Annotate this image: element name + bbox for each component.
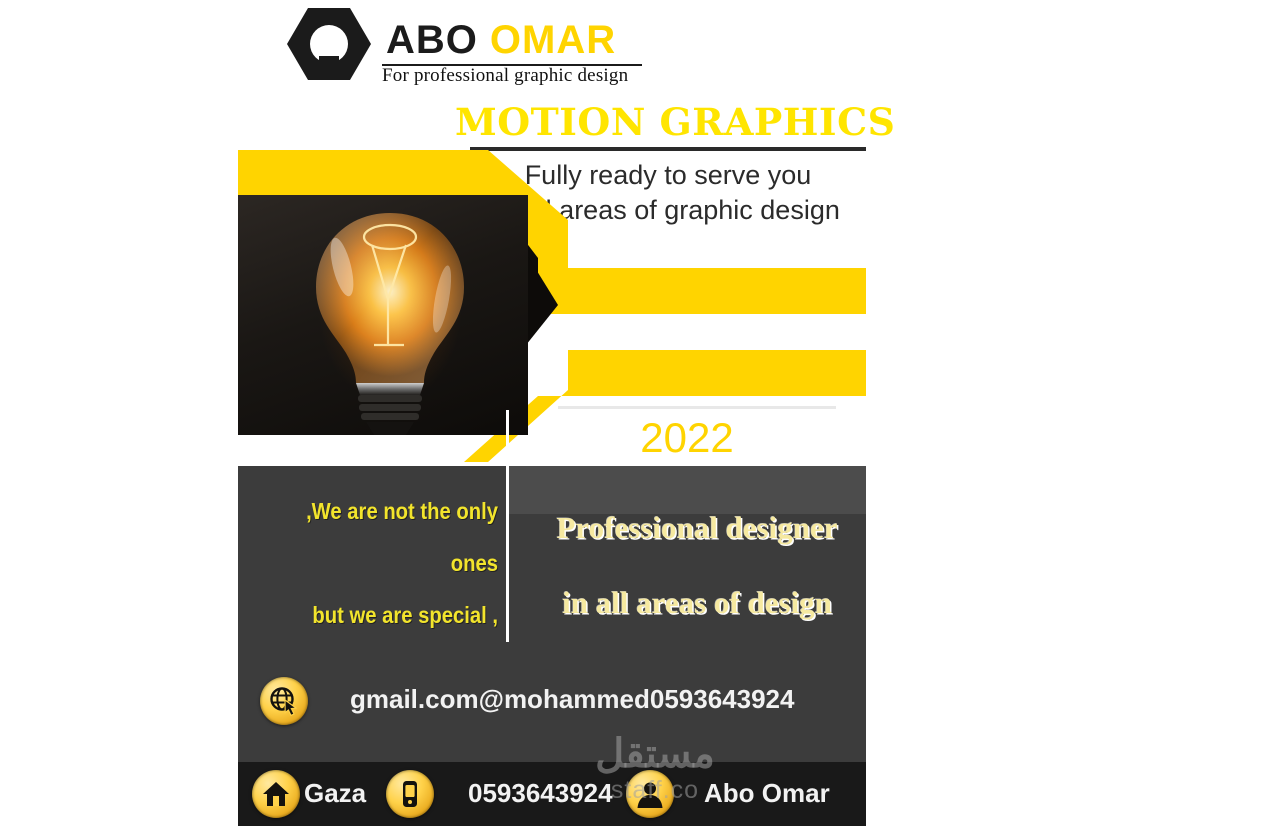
user-icon[interactable] <box>626 770 674 818</box>
statement-text: Professional designer in all areas of de… <box>528 490 866 640</box>
mobile-phone-icon[interactable] <box>386 770 434 818</box>
brand-wordmark: ABOOMAR <box>386 18 886 62</box>
hexagon-nut-logo-icon <box>286 6 372 82</box>
home-icon[interactable] <box>252 770 300 818</box>
brand-header: ABOOMAR For professional graphic design <box>286 4 886 88</box>
contact-person-text: Abo Omar <box>704 778 830 809</box>
about-year: 2022 <box>508 414 866 462</box>
globe-cursor-icon[interactable] <box>260 677 308 725</box>
slogan-line-2: but we are special , <box>276 589 498 641</box>
contact-phone-text: 0593643924 <box>468 778 613 809</box>
hero-image-frame <box>238 195 528 435</box>
brand-name-first: ABO <box>386 18 478 62</box>
lightbulb-illustration <box>238 195 528 435</box>
poster-canvas: ABOOMAR For professional graphic design … <box>0 0 1280 826</box>
column-divider <box>506 410 509 642</box>
page-title: MOTION GRAPHICS <box>455 100 883 144</box>
slogan-line-1: ,We are not the only ones <box>276 485 498 589</box>
poster-card: brief about me 2022 ,We are not the only… <box>238 150 866 826</box>
contact-email-text: gmail.com@mohammed0593643924 <box>350 684 794 715</box>
brand-name-second: OMAR <box>490 18 616 62</box>
contact-location-text: Gaza <box>304 778 366 809</box>
about-heading: brief about me <box>508 362 866 400</box>
about-heading-underline <box>558 406 836 409</box>
slogan-text: ,We are not the only ones but we are spe… <box>276 485 498 641</box>
brand-tagline: For professional graphic design <box>382 65 902 87</box>
statement-line-2: in all areas of design <box>528 565 866 640</box>
contact-footer-row: Gaza 0593643924 Abo Omar <box>238 762 866 826</box>
contact-email-row: gmail.com@mohammed0593643924 <box>246 673 866 731</box>
statement-line-1: Professional designer <box>528 490 866 565</box>
lightbulb-photo <box>238 195 528 435</box>
